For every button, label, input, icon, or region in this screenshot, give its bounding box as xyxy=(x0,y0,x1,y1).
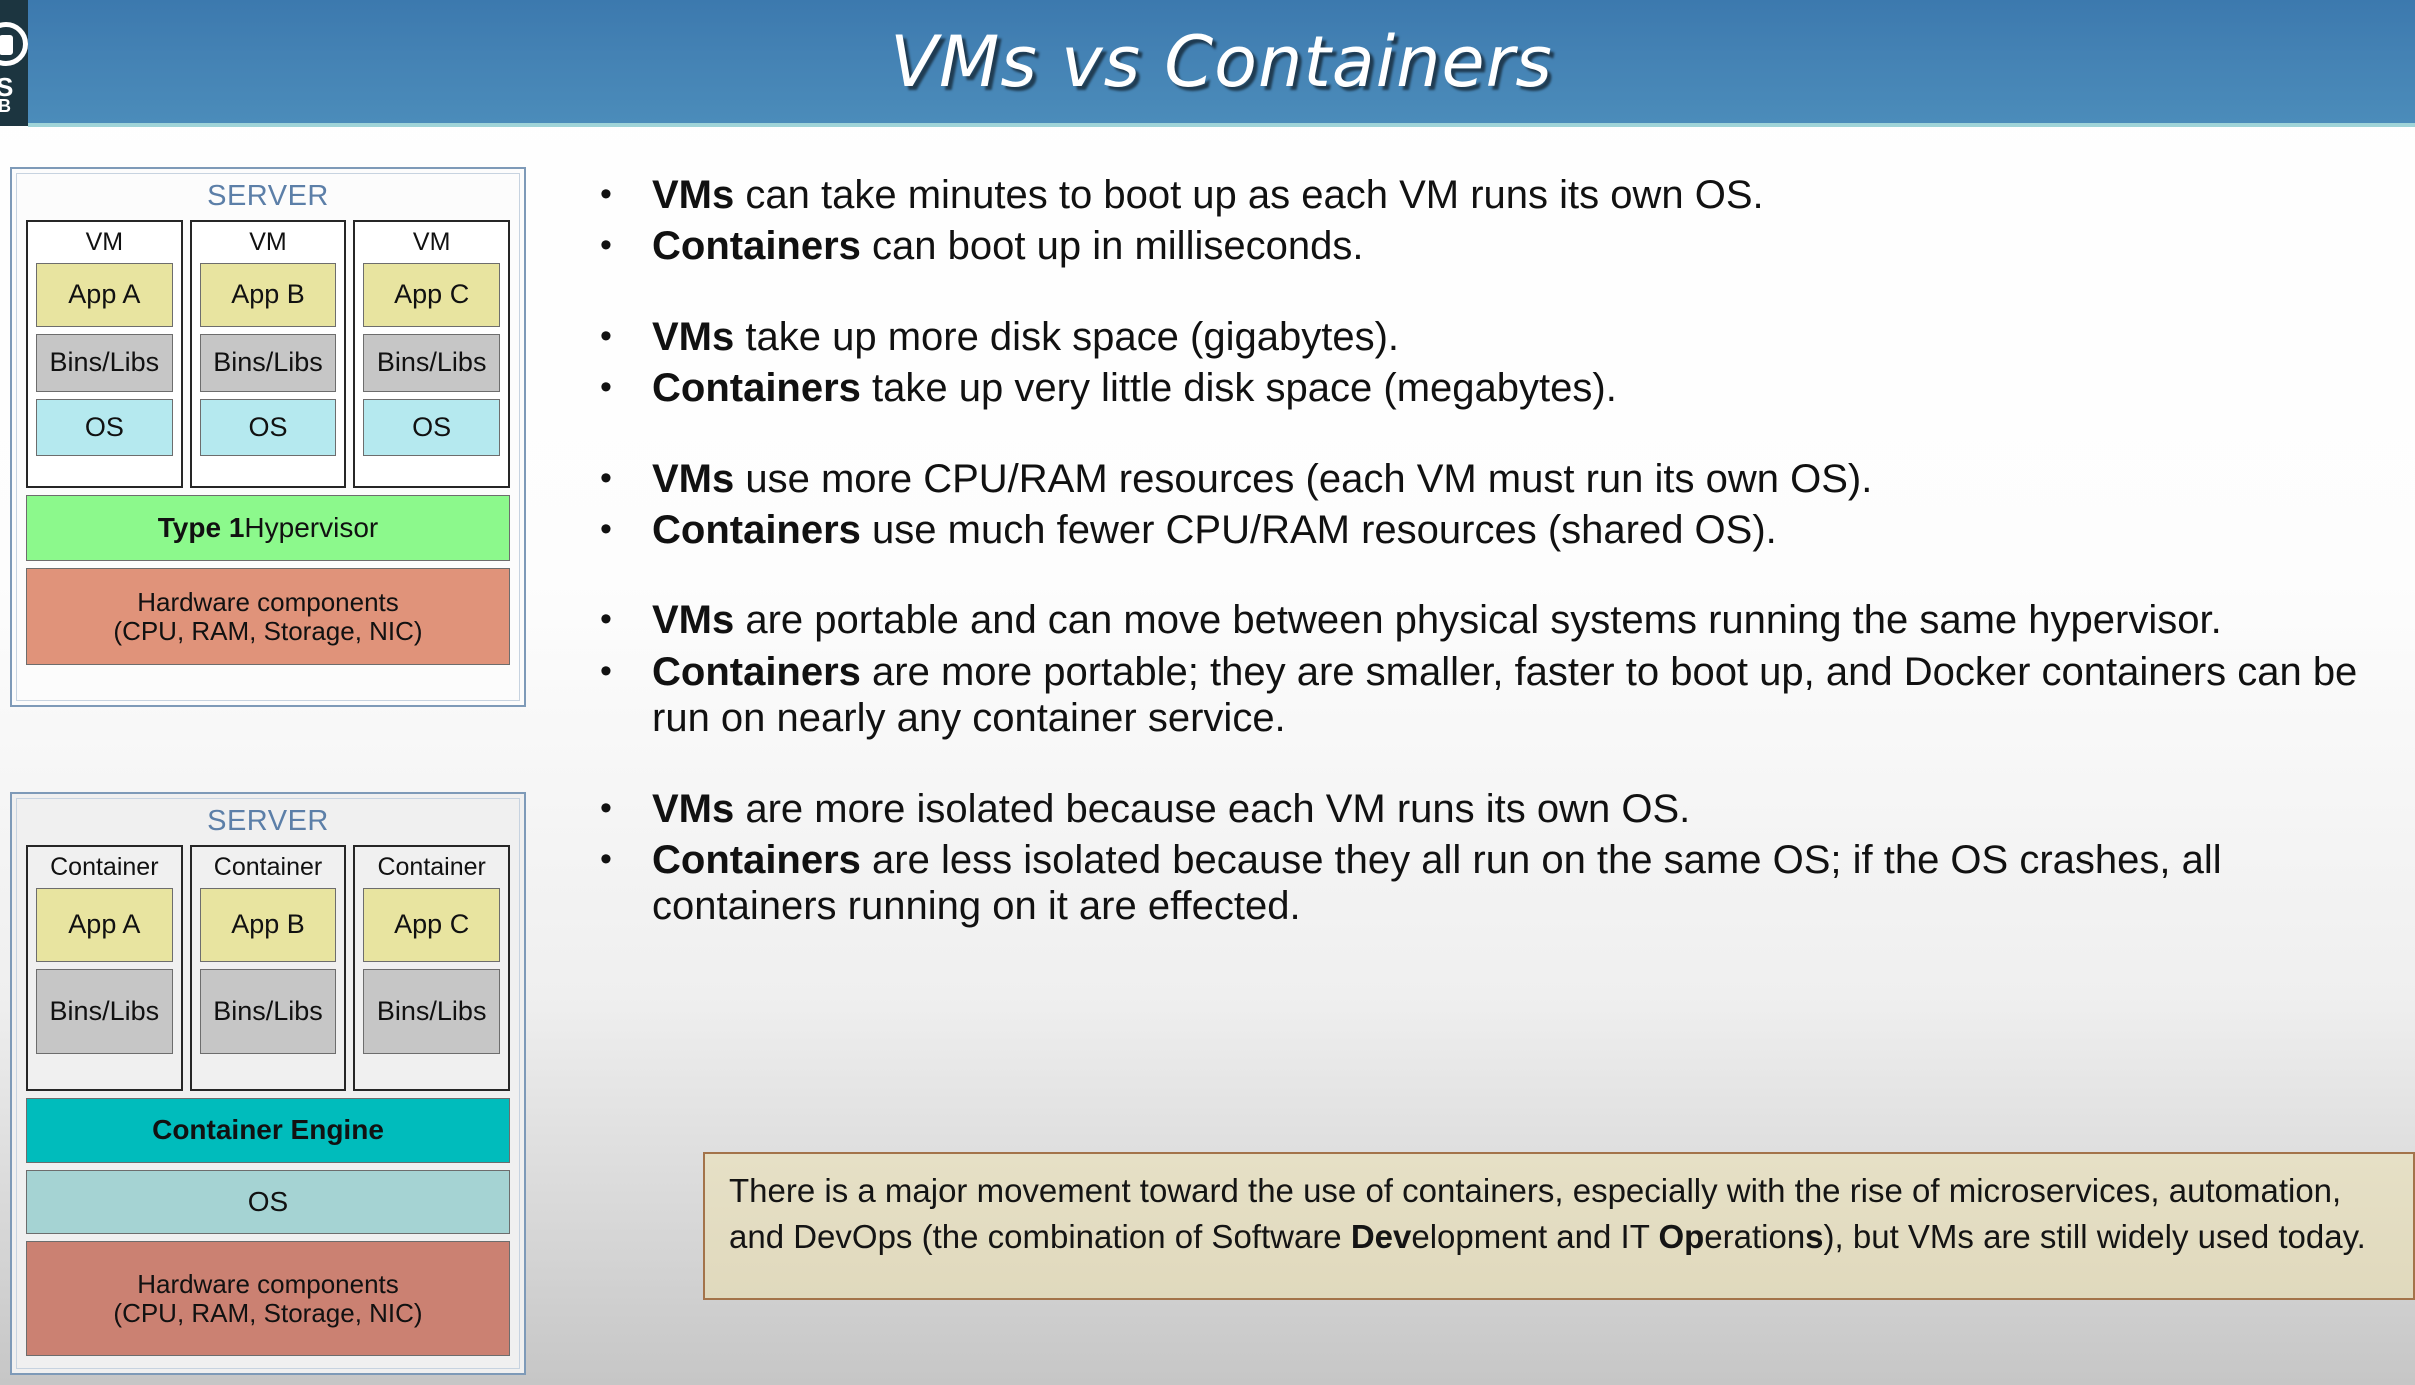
circular-person-logo-icon xyxy=(0,22,28,66)
container-server-panel-inner: SERVER Container App A Bins/Libs Contain… xyxy=(16,798,520,1369)
vm-box-b-bins-layer: Bins/Libs xyxy=(200,334,337,392)
bullet-item: • VMs use more CPU/RAM resources (each V… xyxy=(600,456,2395,502)
vm-box-c-title: VM xyxy=(363,228,500,257)
container-box-c-app-layer: App C xyxy=(363,888,500,962)
bullet-marker-icon: • xyxy=(600,507,652,552)
container-hardware-line2: (CPU, RAM, Storage, NIC) xyxy=(113,1299,422,1328)
bullet-group-cpu-ram: • VMs use more CPU/RAM resources (each V… xyxy=(600,456,2395,554)
bullet-lead-term: Containers xyxy=(652,366,861,410)
bullet-item: • Containers can boot up in milliseconds… xyxy=(600,223,2395,269)
container-box-b-app-layer: App B xyxy=(200,888,337,962)
vm-box-c-bins-layer: Bins/Libs xyxy=(363,334,500,392)
bullet-lead-term: VMs xyxy=(652,315,734,359)
container-engine-layer: Container Engine xyxy=(26,1098,510,1163)
bullet-text: VMs are portable and can move between ph… xyxy=(652,597,2395,643)
bullet-lead-term: VMs xyxy=(652,457,734,501)
logo-letter-secondary: B xyxy=(0,96,11,117)
bullet-body-text: take up very little disk space (megabyte… xyxy=(861,366,1617,410)
container-box-b-bins-layer: Bins/Libs xyxy=(200,969,337,1054)
container-box-b: Container App B Bins/Libs xyxy=(190,845,347,1091)
container-guest-row: Container App A Bins/Libs Container App … xyxy=(26,845,510,1091)
container-box-c: Container App C Bins/Libs xyxy=(353,845,510,1091)
vm-box-c-app-layer: App C xyxy=(363,263,500,327)
vm-box-a: VM App A Bins/Libs OS xyxy=(26,220,183,488)
summary-callout-box: There is a major movement toward the use… xyxy=(703,1152,2415,1300)
bullet-group-boot-time: • VMs can take minutes to boot up as eac… xyxy=(600,172,2395,270)
vm-box-a-title: VM xyxy=(36,228,173,257)
container-hardware-layer: Hardware components (CPU, RAM, Storage, … xyxy=(26,1241,510,1356)
vm-hardware-line1: Hardware components xyxy=(113,588,422,617)
bullet-text: Containers use much fewer CPU/RAM resour… xyxy=(652,507,2395,553)
container-hardware-line1: Hardware components xyxy=(113,1270,422,1299)
vm-guest-row: VM App A Bins/Libs OS VM App B Bins/Libs… xyxy=(26,220,510,488)
vm-box-b: VM App B Bins/Libs OS xyxy=(190,220,347,488)
hypervisor-layer: Type 1 Hypervisor xyxy=(26,495,510,561)
vm-box-c: VM App C Bins/Libs OS xyxy=(353,220,510,488)
bullet-marker-icon: • xyxy=(600,597,652,642)
bullet-group-portability: • VMs are portable and can move between … xyxy=(600,597,2395,741)
container-box-a: Container App A Bins/Libs xyxy=(26,845,183,1091)
container-architecture-diagram: SERVER Container App A Bins/Libs Contain… xyxy=(10,792,526,1375)
slide-header-bar: VMs vs Containers xyxy=(28,0,2415,123)
bullet-lead-term: VMs xyxy=(652,173,734,217)
comparison-bullet-list: • VMs can take minutes to boot up as eac… xyxy=(600,172,2395,974)
bullet-text: Containers are less isolated because the… xyxy=(652,837,2395,930)
bullet-marker-icon: • xyxy=(600,456,652,501)
vm-box-b-app-layer: App B xyxy=(200,263,337,327)
vm-box-b-title: VM xyxy=(200,228,337,257)
bullet-text: Containers take up very little disk spac… xyxy=(652,365,2395,411)
bullet-item: • VMs can take minutes to boot up as eac… xyxy=(600,172,2395,218)
vm-box-b-os-layer: OS xyxy=(200,399,337,456)
hypervisor-name-label: Hypervisor xyxy=(244,513,378,544)
bullet-text: VMs can take minutes to boot up as each … xyxy=(652,172,2395,218)
page-title: VMs vs Containers xyxy=(28,21,2415,103)
container-host-os-layer: OS xyxy=(26,1170,510,1234)
header-underline-divider xyxy=(28,123,2415,127)
bullet-lead-term: Containers xyxy=(652,508,861,552)
bullet-text: VMs take up more disk space (gigabytes). xyxy=(652,314,2395,360)
callout-bold-dev: Dev xyxy=(1351,1218,1412,1255)
bullet-group-disk-space: • VMs take up more disk space (gigabytes… xyxy=(600,314,2395,412)
bullet-lead-term: VMs xyxy=(652,598,734,642)
callout-bold-op: Op xyxy=(1658,1218,1704,1255)
container-box-a-app-layer: App A xyxy=(36,888,173,962)
bullet-marker-icon: • xyxy=(600,786,652,831)
bullet-body-text: can take minutes to boot up as each VM r… xyxy=(734,173,1763,217)
vm-hardware-layer: Hardware components (CPU, RAM, Storage, … xyxy=(26,568,510,665)
container-box-b-title: Container xyxy=(200,853,337,882)
bullet-lead-term: VMs xyxy=(652,787,734,831)
bullet-marker-icon: • xyxy=(600,314,652,359)
bullet-item: • Containers are more portable; they are… xyxy=(600,649,2395,742)
callout-part-4: ), but VMs are still widely used today. xyxy=(1824,1218,2366,1255)
bullet-body-text: use more CPU/RAM resources (each VM must… xyxy=(734,457,1872,501)
bullet-body-text: use much fewer CPU/RAM resources (shared… xyxy=(861,508,1777,552)
app-logo-strip: S B xyxy=(0,0,28,126)
container-box-a-bins-layer: Bins/Libs xyxy=(36,969,173,1054)
vm-architecture-diagram: SERVER VM App A Bins/Libs OS VM App B Bi… xyxy=(10,167,526,707)
vm-box-a-app-layer: App A xyxy=(36,263,173,327)
bullet-item: • Containers are less isolated because t… xyxy=(600,837,2395,930)
hypervisor-type-label: Type 1 xyxy=(158,513,245,544)
vm-server-panel-inner: SERVER VM App A Bins/Libs OS VM App B Bi… xyxy=(16,173,520,701)
bullet-item: • Containers take up very little disk sp… xyxy=(600,365,2395,411)
container-server-label: SERVER xyxy=(26,805,510,838)
bullet-lead-term: Containers xyxy=(652,224,861,268)
bullet-marker-icon: • xyxy=(600,837,652,882)
bullet-marker-icon: • xyxy=(600,223,652,268)
vm-hardware-line2: (CPU, RAM, Storage, NIC) xyxy=(113,617,422,646)
vm-box-a-os-layer: OS xyxy=(36,399,173,456)
callout-part-3: eration xyxy=(1704,1218,1805,1255)
bullet-item: • VMs are portable and can move between … xyxy=(600,597,2395,643)
container-box-c-title: Container xyxy=(363,853,500,882)
bullet-item: • Containers use much fewer CPU/RAM reso… xyxy=(600,507,2395,553)
bullet-text: Containers can boot up in milliseconds. xyxy=(652,223,2395,269)
container-box-a-title: Container xyxy=(36,853,173,882)
bullet-marker-icon: • xyxy=(600,649,652,694)
vm-box-a-bins-layer: Bins/Libs xyxy=(36,334,173,392)
vm-box-c-os-layer: OS xyxy=(363,399,500,456)
bullet-body-text: are portable and can move between physic… xyxy=(734,598,2221,642)
bullet-marker-icon: • xyxy=(600,172,652,217)
bullet-lead-term: Containers xyxy=(652,838,861,882)
bullet-text: VMs use more CPU/RAM resources (each VM … xyxy=(652,456,2395,502)
bullet-body-text: are more portable; they are smaller, fas… xyxy=(652,650,2357,740)
callout-bold-s: s xyxy=(1805,1218,1823,1255)
bullet-item: • VMs are more isolated because each VM … xyxy=(600,786,2395,832)
bullet-body-text: are less isolated because they all run o… xyxy=(652,838,2222,928)
bullet-body-text: are more isolated because each VM runs i… xyxy=(734,787,1690,831)
bullet-body-text: can boot up in milliseconds. xyxy=(861,224,1364,268)
bullet-item: • VMs take up more disk space (gigabytes… xyxy=(600,314,2395,360)
bullet-marker-icon: • xyxy=(600,365,652,410)
bullet-text: Containers are more portable; they are s… xyxy=(652,649,2395,742)
bullet-lead-term: Containers xyxy=(652,650,861,694)
vm-server-label: SERVER xyxy=(26,180,510,213)
summary-callout-text: There is a major movement toward the use… xyxy=(729,1168,2389,1259)
container-box-c-bins-layer: Bins/Libs xyxy=(363,969,500,1054)
callout-part-2: elopment and IT xyxy=(1411,1218,1658,1255)
bullet-text: VMs are more isolated because each VM ru… xyxy=(652,786,2395,832)
bullet-group-isolation: • VMs are more isolated because each VM … xyxy=(600,786,2395,930)
bullet-body-text: take up more disk space (gigabytes). xyxy=(734,315,1399,359)
